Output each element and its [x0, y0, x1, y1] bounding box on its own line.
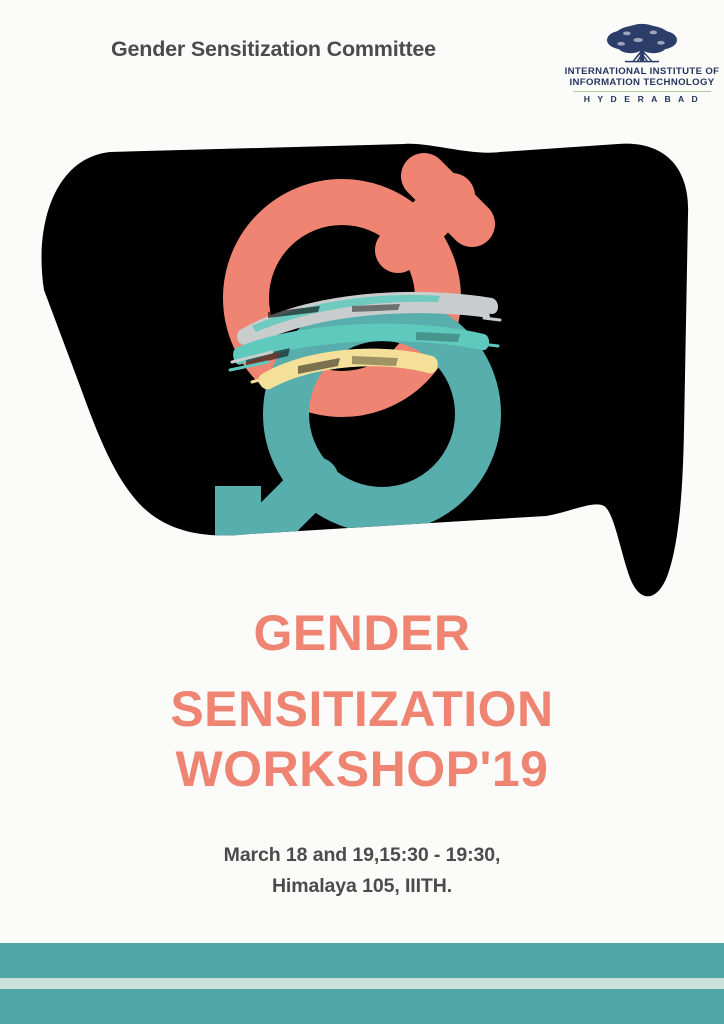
footer-band-top — [0, 943, 724, 978]
poster-canvas: Gender Sensitization Committee — [0, 0, 724, 1024]
logo-line-2: INFORMATION TECHNOLOGY — [569, 77, 714, 89]
footer-stripe — [0, 978, 724, 989]
logo-line-1: INTERNATIONAL INSTITUTE OF — [565, 66, 720, 78]
event-datetime: March 18 and 19,15:30 - 19:30, — [0, 840, 724, 871]
event-venue: Himalaya 105, IIITH. — [0, 871, 724, 902]
institute-logo: INTERNATIONAL INSTITUTE OF INFORMATION T… — [569, 22, 715, 104]
logo-line-3: H Y D E R A B A D — [584, 94, 701, 104]
footer-band-bottom — [0, 989, 724, 1024]
headline-line-1: GENDER — [0, 608, 724, 658]
logo-divider — [573, 91, 711, 92]
speech-bubble-shape — [0, 130, 724, 630]
headline-line-2: SENSITIZATION — [0, 684, 724, 734]
tree-emblem-icon — [596, 22, 688, 66]
headline-line-3: WORKSHOP'19 — [0, 744, 724, 794]
speech-bubble-graphic — [0, 130, 724, 630]
page-title: Gender Sensitization Committee — [111, 37, 436, 62]
